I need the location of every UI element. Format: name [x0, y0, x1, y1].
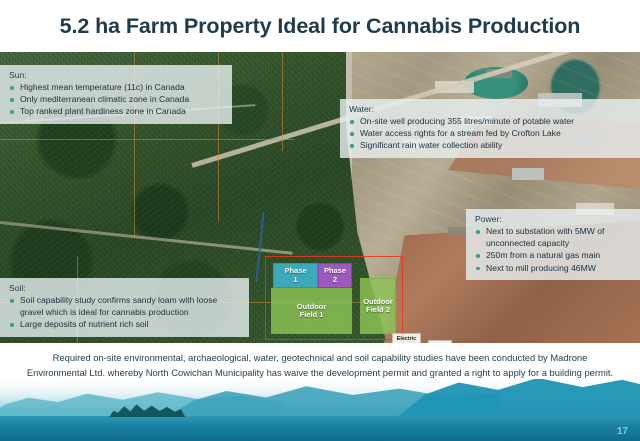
- list-item: Only mediterranean climatic zone in Cana…: [9, 93, 223, 105]
- bullet-icon: [10, 299, 14, 303]
- callout-power-heading: Power:: [475, 214, 631, 224]
- callout-water-heading: Water:: [349, 104, 631, 114]
- bullet-icon: [476, 267, 480, 271]
- list-item: Next to substation with 5MW of unconnect…: [475, 225, 631, 249]
- parcel-outdoor-field-2[interactable]: Outdoor Field 2: [360, 278, 396, 334]
- list-item: Next to mill producing 46MW: [475, 262, 631, 274]
- map-note-electric-substation[interactable]: Electric Sub-station: [392, 333, 421, 343]
- bullet-icon: [350, 120, 354, 124]
- list-item: Water access rights for a stream fed by …: [349, 127, 631, 139]
- list-item: Large deposits of nutrient rich soil: [9, 318, 240, 330]
- list-item: Highest mean temperature (11c) in Canada: [9, 81, 223, 93]
- parcel-outdoor-field-2-label: Outdoor Field 2: [363, 298, 393, 315]
- list-item: On-site well producing 355 litres/minute…: [349, 115, 631, 127]
- page-title: 5.2 ha Farm Property Ideal for Cannabis …: [0, 14, 640, 39]
- bullet-icon: [10, 323, 14, 327]
- list-item: Soil capability study confirms sandy loa…: [9, 294, 240, 318]
- footer-landscape-image: 17: [0, 379, 640, 441]
- slide-caption: Required on-site environmental, archaeol…: [22, 350, 618, 380]
- callout-water-list: On-site well producing 355 litres/minute…: [349, 115, 631, 152]
- parcel-line: [282, 52, 283, 151]
- list-item: 250m from a natural gas main: [475, 249, 631, 261]
- parcel-phase-1[interactable]: Phase 1: [273, 263, 318, 288]
- map-note-electric-substation-label: Electric Sub-station: [394, 336, 419, 343]
- parcel-outdoor-field-1-label: Outdoor Field 1: [297, 303, 327, 320]
- water-surface: [0, 416, 640, 441]
- bullet-icon: [350, 132, 354, 136]
- bullet-icon: [10, 110, 14, 114]
- callout-sun-heading: Sun:: [9, 70, 223, 80]
- bullet-icon: [10, 86, 14, 90]
- callout-soil-heading: Soil:: [9, 283, 240, 293]
- bullet-icon: [10, 98, 14, 102]
- callout-sun: Sun: Highest mean temperature (11c) in C…: [0, 65, 232, 124]
- parcel-phase-1-label: Phase 1: [284, 267, 306, 284]
- parcel-outdoor-field-1[interactable]: Outdoor Field 1: [271, 288, 352, 334]
- parcel-line: [0, 139, 294, 140]
- bullet-icon: [350, 144, 354, 148]
- callout-water: Water: On-site well producing 355 litres…: [340, 99, 640, 158]
- slide: 5.2 ha Farm Property Ideal for Cannabis …: [0, 0, 640, 441]
- callout-power: Power: Next to substation with 5MW of un…: [466, 209, 640, 280]
- bullet-icon: [476, 254, 480, 258]
- list-item: Top ranked plant hardiness zone in Canad…: [9, 105, 223, 117]
- callout-soil-list: Soil capability study confirms sandy loa…: [9, 294, 240, 331]
- parcel-phase-2[interactable]: Phase 2: [318, 263, 352, 288]
- bullet-icon: [476, 230, 480, 234]
- page-number: 17: [617, 426, 628, 437]
- callout-sun-list: Highest mean temperature (11c) in Canada…: [9, 81, 223, 118]
- parcel-phase-2-label: Phase 2: [324, 267, 346, 284]
- list-item: Significant rain water collection abilit…: [349, 139, 631, 151]
- callout-power-list: Next to substation with 5MW of unconnect…: [475, 225, 631, 274]
- map-note-natural-gas-line[interactable]: Natural Gas Line: [428, 340, 452, 343]
- callout-soil: Soil: Soil capability study confirms san…: [0, 278, 249, 337]
- building: [512, 168, 544, 180]
